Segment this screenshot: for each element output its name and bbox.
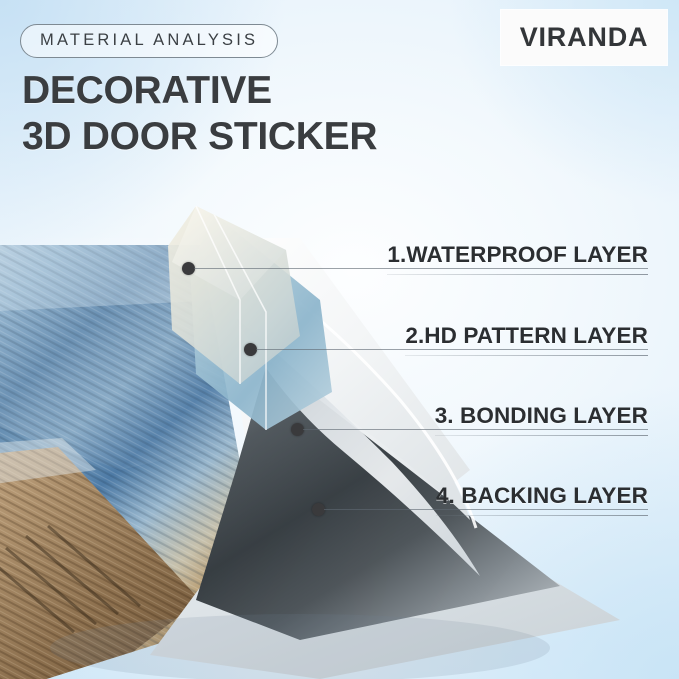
material-analysis-badge: MATERIAL ANALYSIS — [20, 24, 278, 58]
callout-label-waterproof-text: 1.WATERPROOF LAYER — [387, 242, 648, 267]
callout-label-backing-rule — [436, 515, 648, 516]
infographic-canvas: MATERIAL ANALYSIS DECORATIVE 3D DOOR STI… — [0, 0, 679, 679]
callout-label-hd-pattern-text: 2.HD PATTERN LAYER — [405, 323, 648, 348]
callout-label-backing-text: 4. BACKING LAYER — [436, 483, 648, 508]
callout-label-hd-pattern-rule — [405, 355, 648, 356]
brand-logo-text: VIRANDA — [520, 22, 649, 53]
callout-label-waterproof: 1.WATERPROOF LAYER — [387, 244, 648, 275]
contact-shadow — [50, 614, 550, 679]
callout-label-bonding: 3. BONDING LAYER — [435, 405, 648, 436]
brand-logo: VIRANDA — [501, 10, 667, 65]
title-line-2: 3D DOOR STICKER — [22, 114, 452, 160]
title-line-1: DECORATIVE — [22, 69, 272, 112]
callout-label-waterproof-rule — [387, 274, 648, 275]
page-title: DECORATIVE 3D DOOR STICKER — [22, 68, 452, 159]
callout-label-hd-pattern: 2.HD PATTERN LAYER — [405, 325, 648, 356]
callout-label-bonding-rule — [435, 435, 648, 436]
callout-label-bonding-text: 3. BONDING LAYER — [435, 403, 648, 428]
callout-label-backing: 4. BACKING LAYER — [436, 485, 648, 516]
